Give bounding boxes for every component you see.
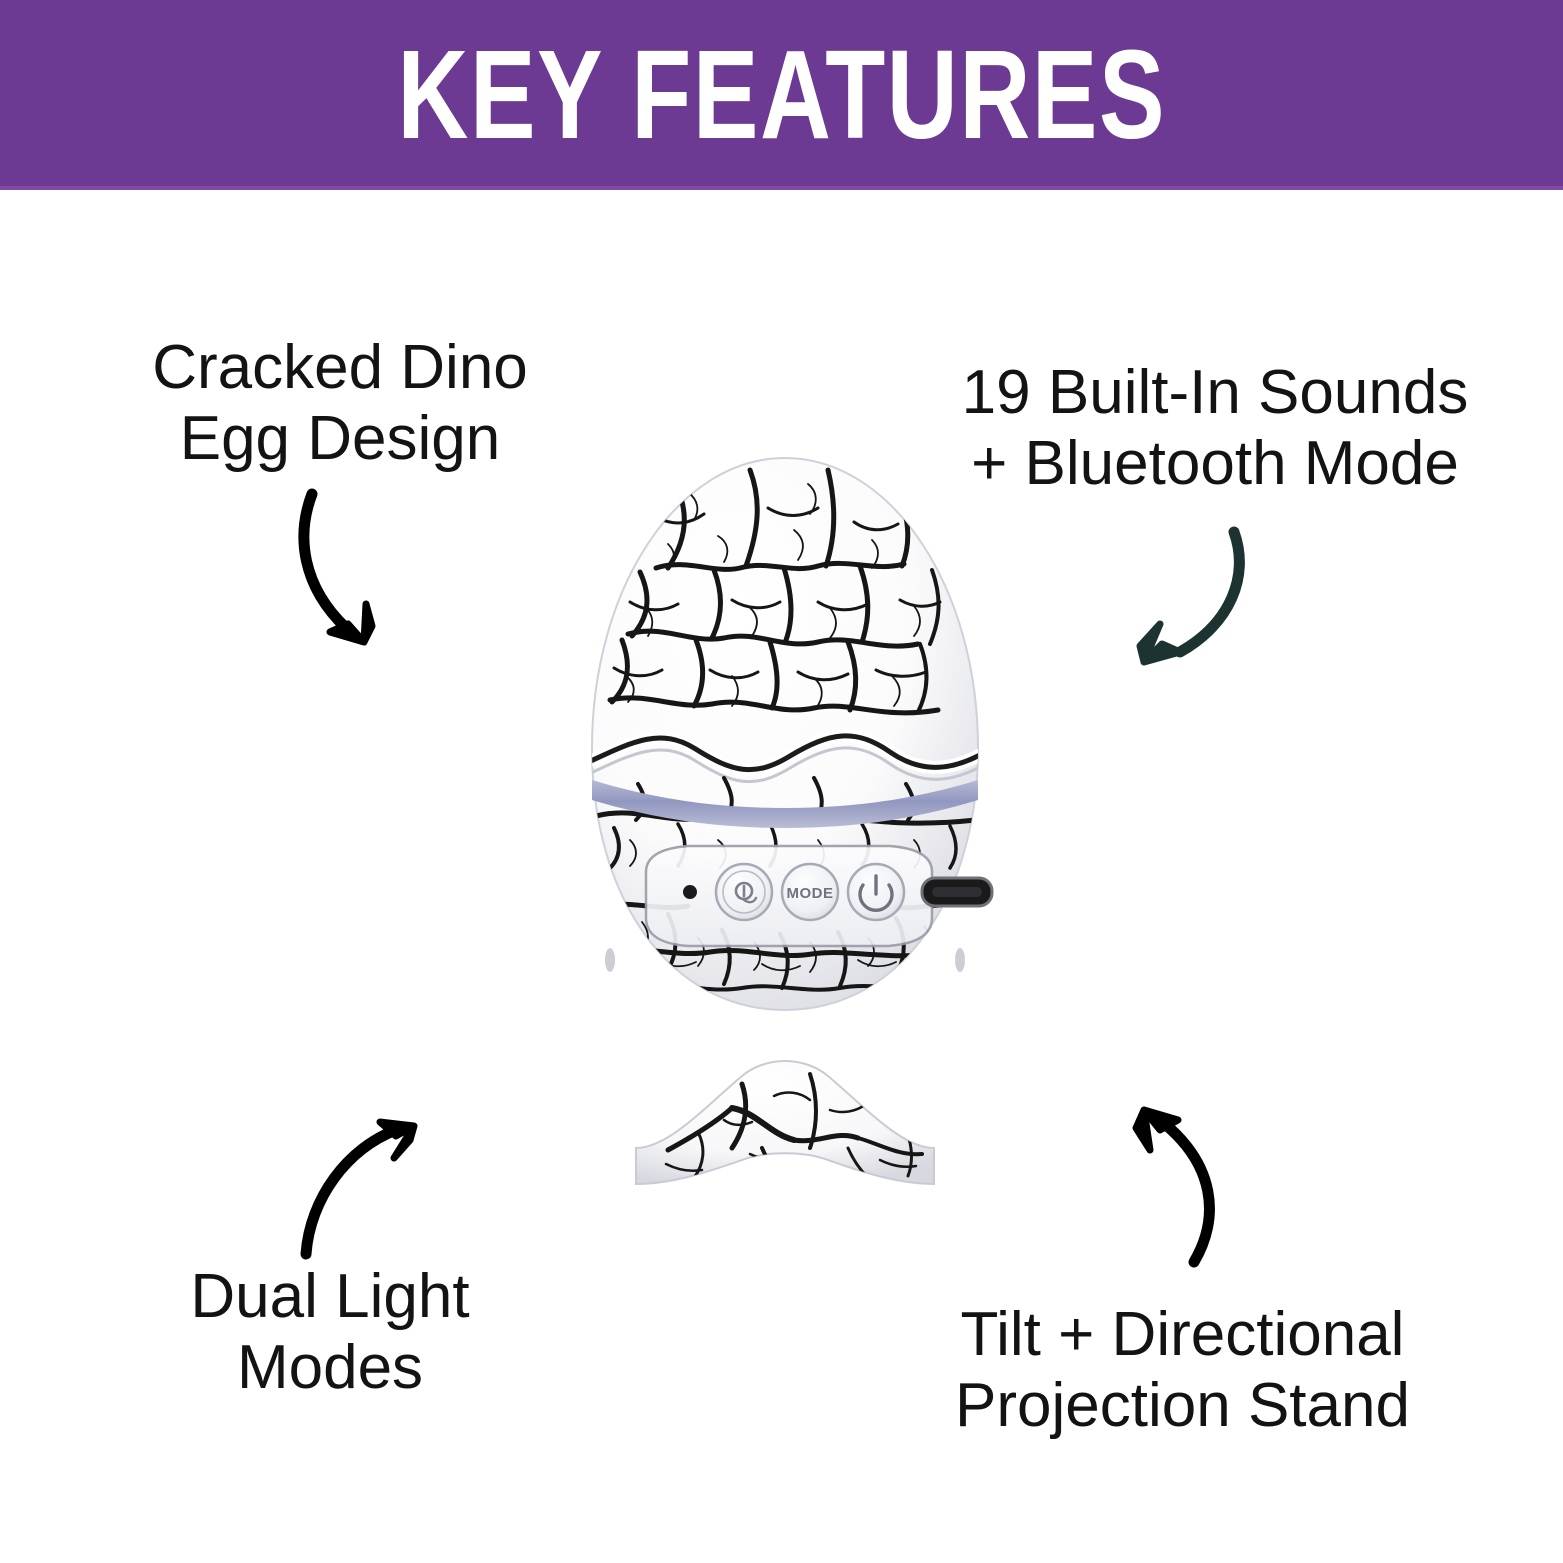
curved-arrow-down-left-icon <box>1098 506 1298 696</box>
light-button[interactable] <box>716 864 772 920</box>
header-banner: KEY FEATURES <box>0 0 1563 186</box>
feature-label-cracked-dino-egg-design: Cracked Dino Egg Design <box>130 333 550 474</box>
egg-shell: MODE <box>580 458 992 1010</box>
feature-label-line-2: Egg Design <box>130 404 550 475</box>
feature-label-line-1: Tilt + Directional <box>930 1300 1435 1371</box>
curved-arrow-down-right-icon <box>268 486 448 676</box>
feature-label-line-1: Cracked Dino <box>130 333 550 404</box>
power-button[interactable] <box>848 864 904 920</box>
curved-arrow-up-left-icon <box>1108 1096 1308 1296</box>
page-title: KEY FEATURES <box>397 32 1166 158</box>
header-underline <box>0 186 1563 190</box>
usb-c-port <box>922 878 992 906</box>
projection-stand <box>636 1061 934 1184</box>
feature-label-tilt-directional-projection-stand: Tilt + Directional Projection Stand <box>930 1300 1435 1441</box>
side-vent-right <box>955 948 965 972</box>
mode-button-label: MODE <box>787 885 834 902</box>
mode-button[interactable]: MODE <box>782 864 838 920</box>
product-image-dinosaur-egg-projector: MODE <box>518 448 1052 1208</box>
feature-label-line-2: Projection Stand <box>930 1371 1435 1442</box>
curved-arrow-up-right-icon <box>288 1106 488 1296</box>
side-vent-left <box>605 948 615 972</box>
infographic-page: KEY FEATURES Cracked Dino Egg Design 19 … <box>0 0 1563 1563</box>
led-indicator-icon <box>683 885 697 899</box>
feature-label-line-2: Modes <box>140 1333 520 1404</box>
feature-label-line-1: 19 Built-In Sounds <box>945 358 1485 429</box>
